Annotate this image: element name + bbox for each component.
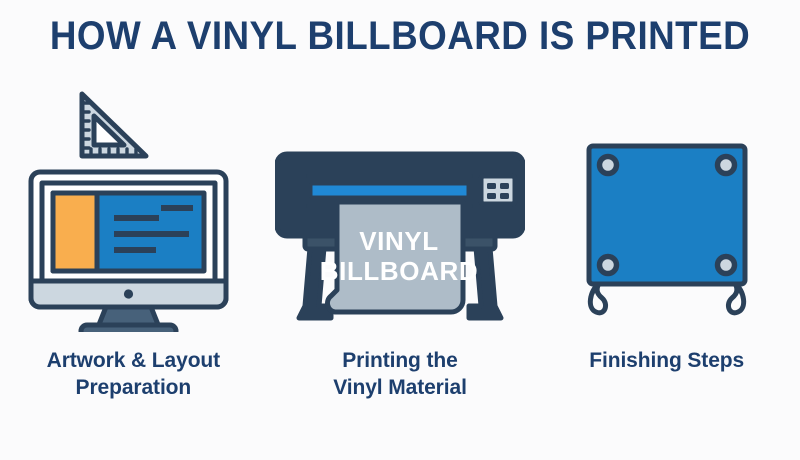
step-1-caption: Artwork & Layout Preparation [47,348,220,402]
paper-label-line-1: VINYL [359,226,439,256]
step-2-caption: Printing the Vinyl Material [333,348,467,402]
set-square-ruler-icon [82,94,146,156]
step-3: Finishing Steps [533,78,800,418]
step-1-illustration [0,78,267,346]
page-title: HOW A VINYL BILLBOARD IS PRINTED [32,14,768,59]
paper-label-line-2: BILLBOARD [320,256,479,286]
step-2-illustration: VINYL BILLBOARD [267,78,534,346]
large-format-printer-icon: VINYL BILLBOARD [275,140,525,340]
bungee-loops [590,282,743,313]
control-panel-icon [481,176,515,204]
infographic-page: HOW A VINYL BILLBOARD IS PRINTED [0,0,800,460]
vinyl-banner-icon [567,132,767,342]
step-3-illustration [533,78,800,346]
step-3-caption: Finishing Steps [589,348,744,375]
step-2: VINYL BILLBOARD Printing the Vinyl Mater… [267,78,534,418]
step-1: Artwork & Layout Preparation [0,78,267,418]
steps-row: Artwork & Layout Preparation [0,78,800,418]
monitor-artwork-icon [18,82,248,332]
desktop-monitor-icon [31,172,226,332]
screen-artwork [53,193,204,271]
